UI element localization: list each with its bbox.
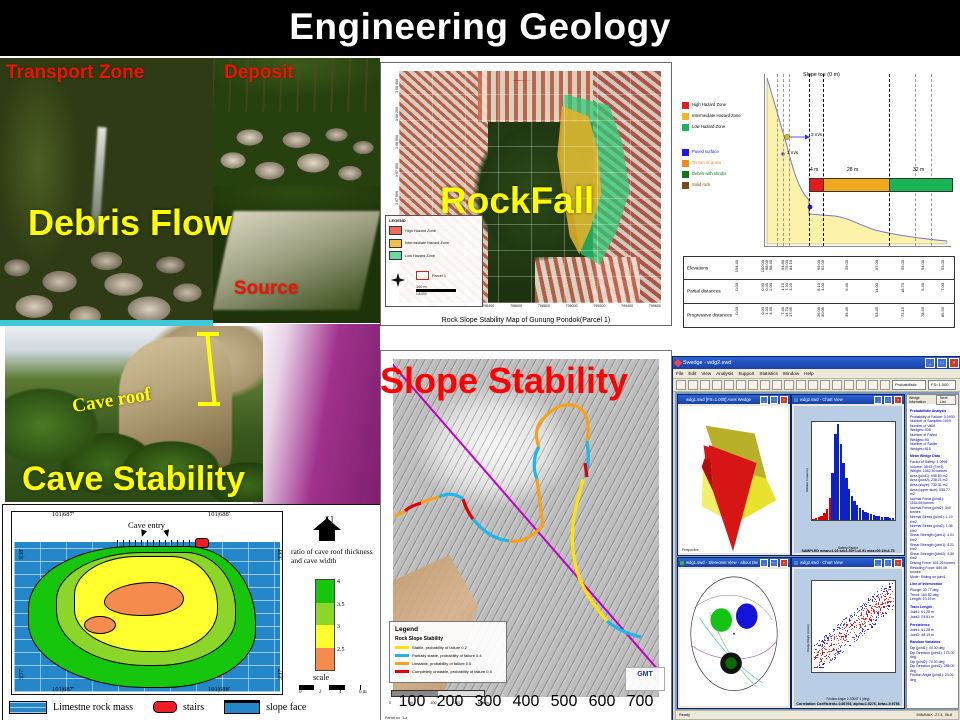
legend-item: Terrain or grass (682, 160, 760, 167)
table-cell: 72.15 (900, 307, 905, 317)
stairs-marker (195, 538, 209, 548)
scatter-point (881, 596, 882, 597)
roof-thickness-measure-icon (195, 330, 223, 408)
legend-swatch (682, 171, 689, 178)
table-cell: 57.00 (874, 260, 879, 270)
wedge-view-icon[interactable] (748, 380, 758, 390)
profile-data-table: Elevations104.40100.0098.0098.3094.8075.… (683, 256, 955, 328)
minimize-button[interactable]: _ (925, 358, 935, 368)
legend-title: Legend (395, 626, 502, 633)
subwindow-body: Wedge Weight (tonnes) Friction Angle 2 J… (794, 569, 902, 706)
print-icon[interactable] (760, 380, 770, 390)
subwindow-title-bar[interactable]: wdg1.swd [FS=1.000] Axes Wedge _ □ × (678, 395, 790, 404)
subwindow-wedge-3d[interactable]: wdg1.swd [FS=1.000] Axes Wedge _ □ × Per (677, 394, 791, 556)
y-tick: 3 08 400 (395, 79, 399, 93)
menu-item-window[interactable]: Window (783, 371, 799, 376)
subwindow-histogram[interactable]: wdg2.swd - Chart View _ □ × Relative Fre… (791, 394, 905, 556)
scatter-point (862, 624, 863, 625)
wedge-information-panel[interactable]: Wedge Information Next List Probabilisti… (906, 394, 959, 709)
scatter-point (819, 665, 820, 666)
scatter-point (827, 637, 828, 638)
menu-item-edit[interactable]: Edit (688, 371, 696, 376)
rockfall-map-caption: Rock Slope Stability Map of Gunung Pondo… (381, 317, 671, 324)
info-line: Shear Strength (joint1): 4.01 t/m2 (910, 533, 955, 542)
rotate-icon[interactable] (868, 380, 878, 390)
scatter-point (841, 636, 842, 637)
scatter-point (857, 612, 858, 613)
scatter-point (833, 644, 834, 645)
caption-cave-stability: Cave Stability (22, 460, 245, 499)
subwindow-scatter[interactable]: wdg2.swd - Chart View _ □ × Wedge Weight… (791, 557, 905, 709)
coord-top-right: 101|688' (208, 511, 230, 518)
scatter-point (854, 637, 855, 638)
scatter-point (878, 617, 879, 618)
wedge-3d-view[interactable] (680, 406, 788, 553)
table-row: Elevations104.40100.0098.0098.3094.8075.… (684, 257, 954, 280)
caption-rockfall: RockFall (440, 180, 594, 222)
scatter-point (852, 628, 853, 629)
label-cave-entry: Cave entry (128, 520, 165, 530)
legend-item: Unstable, probability of failure 0.5 (395, 661, 502, 666)
app-icon (674, 359, 682, 367)
menu-item-analysis[interactable]: Analysis (716, 371, 733, 376)
open-icon[interactable] (688, 380, 698, 390)
x-tick: 500 (551, 693, 578, 711)
scale-tick: 0 (299, 690, 302, 695)
scatter-point (856, 640, 857, 641)
scatter-point (865, 619, 866, 620)
page-title: Engineering Geology (0, 2, 960, 52)
scatter-point (846, 622, 847, 623)
ratio-legend-text: ratio of cave roof thickness and cave wi… (291, 547, 375, 565)
coord-bottom-left: 101|687' (52, 686, 74, 693)
scatter-point (831, 651, 832, 652)
scatter-point (826, 649, 827, 650)
scatter-point (833, 649, 834, 650)
histogram-caption: SAMPLED mean=1.03 sd=1.53+/-=6.91 max=00… (795, 549, 901, 553)
cave-roof-thickness-map: Cave entry 101|687' 101|688' 101|687' 10… (2, 504, 382, 720)
scatter-point (824, 637, 825, 638)
scatter-point (881, 604, 882, 605)
velocity-label-2: 3 m/s (787, 150, 798, 155)
scatter-point (817, 655, 818, 656)
subwindow-title-bar[interactable]: wdg2.swd - Chart View _ □ × (792, 395, 904, 404)
scatter-point (883, 591, 884, 592)
scatter-point (829, 662, 830, 663)
info-line: Normal Force (joint2): 340 tonnes (910, 506, 955, 515)
table-cell: 59.00 (844, 260, 849, 270)
legend-swatch (224, 700, 260, 714)
scale-label: scale (313, 673, 329, 682)
scatter-point (853, 637, 854, 638)
info-line: Dip Direction (joint1): 173.00 deg (910, 651, 955, 660)
subwindow-icon (794, 561, 798, 565)
scatter-point (836, 636, 837, 637)
x-tick: 200 (437, 693, 464, 711)
scatter-point (814, 659, 815, 660)
coord-bottom-right: 101|688' (208, 686, 230, 693)
scatter-point (850, 632, 851, 633)
close-button[interactable]: × (780, 396, 788, 404)
chart-icon[interactable] (772, 380, 782, 390)
grid-icon[interactable] (796, 380, 806, 390)
toolbar[interactable]: Probabilistic FS=1.000 (673, 379, 960, 392)
safety-factor-histogram[interactable]: Relative Frequency Safety Factor (794, 406, 902, 553)
scatter-point (834, 654, 835, 655)
ratio-color-ramp (315, 579, 335, 671)
subwindow-icon (680, 398, 684, 402)
ratio-ramp-labels: 43.532.5 (337, 575, 367, 671)
scatter-point (854, 641, 855, 642)
close-button[interactable]: × (780, 559, 788, 567)
slope-stability-legend: Legend Rock Slope Stability Stable, prob… (389, 621, 507, 683)
scatter-point (838, 648, 839, 649)
scatter-point (882, 593, 883, 594)
scatter-point (864, 621, 865, 622)
legend-swatch (682, 102, 689, 109)
caption-debris-flow: Debris Flow (28, 202, 232, 244)
window-title-bar[interactable]: Swedge - wdg2.swd _ □ × (673, 357, 960, 369)
scatter-point (883, 603, 884, 604)
scatter-point (851, 624, 852, 625)
scatter-point (825, 640, 826, 641)
scatter-point (834, 659, 835, 660)
coord-left-top: 3|38' (19, 549, 25, 560)
close-button[interactable]: × (894, 559, 902, 567)
scatter-point (844, 619, 845, 620)
legend-swatch (389, 226, 402, 235)
scatter-point (865, 622, 866, 623)
scatter-point (859, 633, 860, 634)
legend-item: Low Hazard Zone (682, 124, 760, 131)
rockfall-map-legend: LEGEND High Hazard ZoneIntermediate Haza… (385, 215, 483, 307)
undo-icon[interactable] (724, 380, 734, 390)
scatter-point (863, 629, 864, 630)
table-cell: 53.00 (940, 260, 945, 270)
table-cell: 55.00 (900, 260, 905, 270)
scatter-point (854, 626, 855, 627)
info-line: Friction Angle (joint1): 23.00 deg (910, 673, 955, 682)
info-line: Driving Force: 601.25 tonnes (910, 561, 955, 566)
scatter-point (854, 612, 855, 613)
scatter-point (840, 639, 841, 640)
legend-label: High Hazard Zone (405, 229, 436, 233)
scatter-point (880, 612, 881, 613)
scatter-point (876, 611, 877, 612)
scatter-point (834, 639, 835, 640)
scatter-point (831, 638, 832, 639)
north-and-scale-column: U ratio of cave roof thickness and cave … (291, 513, 375, 693)
table-cell: 9.40 (844, 283, 849, 291)
scatter-point (814, 652, 815, 653)
redo-icon[interactable] (736, 380, 746, 390)
scatter-point (876, 601, 877, 602)
scatter-point (841, 623, 842, 624)
scatter-point (872, 601, 873, 602)
table-cell: 0.00 (734, 307, 739, 315)
scatter-point (855, 622, 856, 623)
x-tick: 700 (627, 693, 654, 711)
legend-swatch (682, 182, 689, 189)
ramp-value: 4 (337, 579, 340, 585)
scatter-plot-area (811, 580, 895, 673)
histogram-bar (892, 518, 894, 520)
subwindow-title-bar[interactable]: wdg1.swd - Stereonet View - about Design… (678, 558, 790, 567)
scatter-point (828, 640, 829, 641)
menu-item-statistics[interactable]: Statistics (759, 371, 777, 376)
scatter-point (881, 588, 882, 589)
info-section-title: Line of Intersection (910, 582, 955, 587)
legend-swatch (682, 113, 689, 120)
ramp-value: 3.5 (337, 602, 345, 608)
legend-label: Limestne rock mass (53, 702, 133, 713)
x-tick: 300 (475, 693, 502, 711)
menu-item-support[interactable]: Support (738, 371, 754, 376)
close-button[interactable]: × (894, 396, 902, 404)
scatter-point (819, 645, 820, 646)
scatter-point (859, 619, 860, 620)
scatter-point (868, 602, 869, 603)
mdi-client-area: wdg1.swd [FS=1.000] Axes Wedge _ □ × Per (675, 392, 959, 712)
histogram-plot-area (811, 421, 895, 521)
maximize-button[interactable]: □ (884, 396, 892, 404)
save-icon[interactable] (700, 380, 710, 390)
table-cell: 104.40 (734, 260, 739, 272)
legend-items: High Hazard ZoneIntermediate Hazard Zone… (389, 226, 479, 260)
scatter-point (816, 657, 817, 658)
copy-icon[interactable] (712, 380, 722, 390)
table-cell: 85.55 (940, 307, 945, 317)
scatter-point (845, 644, 846, 645)
zoom-out-icon[interactable] (844, 380, 854, 390)
next-list-button[interactable]: Next List (936, 395, 956, 405)
minimize-button[interactable]: _ (760, 396, 768, 404)
scatter-point (888, 609, 889, 610)
status-right-label: MIN/MAX (917, 713, 933, 717)
minimize-button[interactable]: _ (874, 396, 882, 404)
scatter-point (884, 596, 885, 597)
scatter-point (849, 645, 850, 646)
scatter-point (824, 643, 825, 644)
ramp-band-0 (316, 580, 334, 603)
scatter-point (832, 658, 833, 659)
table-cell: 2.00 (768, 283, 773, 291)
analysis-type-select[interactable]: Probabilistic (892, 380, 926, 390)
info-line: Shear Strength (joint2): 4.30 t/m2 (910, 552, 955, 561)
scatter-point (848, 634, 849, 635)
scatter-point (867, 614, 868, 615)
info-line: Area (upper face): 055.77 m2 (910, 488, 955, 497)
row-label: Progressive distances (687, 313, 732, 318)
scatter-point (837, 625, 838, 626)
scatter-point (869, 605, 870, 606)
info-panel-title: Wedge Information (909, 396, 933, 404)
stereonet-plot[interactable] (680, 569, 788, 703)
subwindow-stereonet[interactable]: wdg1.swd - Stereonet View - about Design… (677, 557, 791, 709)
scatter-point (849, 627, 850, 628)
table-cell: 98.30 (768, 260, 773, 270)
measure-icon[interactable] (880, 380, 890, 390)
scatter-point (826, 643, 827, 644)
scatter-point (816, 644, 817, 645)
info-section-title: Trace Length (910, 605, 955, 610)
scatter-point (821, 659, 822, 660)
scatter-point (858, 618, 859, 619)
menu-item-help[interactable]: Help (804, 371, 813, 376)
scatter-point (861, 633, 862, 634)
close-button[interactable]: × (949, 358, 959, 368)
window-title: Swedge - wdg2.swd (683, 360, 923, 366)
scatter-point (840, 624, 841, 625)
legend-label: Solid rock (692, 182, 710, 189)
scatter-point (863, 624, 864, 625)
ratio-band-2p5-b (84, 616, 116, 634)
maximize-button[interactable]: □ (770, 559, 778, 567)
coord-top-left: 101|687' (52, 511, 74, 518)
scatter-point (852, 616, 853, 617)
info-line: Mode: Sliding on joint1 (910, 575, 955, 580)
subwindow-title-bar[interactable]: wdg2.swd - Chart View _ □ × (792, 558, 904, 567)
stereonet-icon[interactable] (784, 380, 794, 390)
scatter-x-label: Friction Angle 2 JOINT 1 (deg) (794, 697, 902, 701)
scatter-point (864, 604, 865, 605)
scatter-point (861, 621, 862, 622)
purple-backdrop (253, 324, 380, 504)
scatter-point (842, 621, 843, 622)
zone-width-low: 32 m (913, 167, 924, 173)
ramp-value: 3 (337, 624, 340, 630)
maximize-button[interactable]: □ (884, 559, 892, 567)
scatter-point (823, 652, 824, 653)
scatter-point (814, 667, 815, 668)
minimize-button[interactable]: _ (874, 559, 882, 567)
swedge-application-window[interactable]: Swedge - wdg2.swd _ □ × FileEditViewAnal… (672, 356, 960, 720)
scale-tick: 2 (319, 690, 322, 695)
zone-bar-intermediate (823, 178, 891, 192)
scatter-point (842, 636, 843, 637)
scatter-point (859, 635, 860, 636)
scatter-point (818, 654, 819, 655)
profile-legend: High Hazard ZoneIntermediate Hazard Zone… (682, 102, 760, 193)
scatter-point (847, 630, 848, 631)
scatter-point (858, 636, 859, 637)
table-cell: 0.00 (734, 283, 739, 291)
y-tick: 3 08 000 (395, 135, 399, 149)
new-icon[interactable] (676, 380, 686, 390)
scatter-point (859, 622, 860, 623)
scatter-point (823, 667, 824, 668)
y-tick: 3 07 800 (395, 163, 399, 177)
caption-slope-stability: Slope Stability (380, 360, 628, 402)
scatter-point (844, 645, 845, 646)
legend-line (395, 662, 409, 665)
scatter-point (869, 600, 870, 601)
legend-item: Low Hazard Zone (389, 251, 479, 260)
settings-icon[interactable] (820, 380, 830, 390)
minimize-button[interactable]: _ (760, 559, 768, 567)
table-cell: 3.30 (768, 307, 773, 315)
menu-bar[interactable]: FileEditViewAnalysisSupportStatisticsWin… (673, 369, 960, 379)
legend-label: stairs (183, 702, 204, 713)
scatter-point (863, 610, 864, 611)
legend-label: Partially stable, probability of failure… (412, 653, 482, 658)
scatter-point (878, 594, 879, 595)
menu-item-view[interactable]: View (701, 371, 711, 376)
fs-field[interactable]: FS=1.000 (928, 380, 956, 390)
scatter-point (840, 647, 841, 648)
scatter-point (886, 613, 887, 614)
scatter-point (840, 650, 841, 651)
scatter-point (873, 624, 874, 625)
table-cell: 7.00 (940, 283, 945, 291)
scatter-point (860, 632, 861, 633)
scatter-point (833, 629, 834, 630)
x-tick: 799400 (621, 304, 633, 308)
legend-swatch (153, 701, 177, 713)
table-row: Partial distances0.000.900.402.004.107.3… (684, 280, 954, 303)
row-label: Partial distances (687, 289, 721, 294)
map-frame: Cave entry 101|687' 101|688' 101|687' 10… (11, 511, 283, 695)
north-arrow-icon (319, 527, 335, 541)
slide-title-bar: Engineering Geology (0, 0, 960, 56)
legend-line (395, 670, 409, 673)
scatter-point (874, 594, 875, 595)
scatter-point (842, 642, 843, 643)
scatter-point (814, 645, 815, 646)
info-line: Dip Direction (joint2): 285.00 deg (910, 664, 955, 673)
scatter-point (892, 591, 893, 592)
subwindow-title: wdg2.swd - Chart View (800, 560, 872, 565)
info-line: Joint2: 48.19 m (910, 633, 955, 638)
subwindow-title: wdg1.swd [FS=1.000] Axes Wedge (686, 397, 758, 402)
table-cell: 39.45 (844, 307, 849, 317)
scatter-point (885, 603, 886, 604)
x-tick: 799200 (593, 304, 605, 308)
scatter-point (842, 627, 843, 628)
scatter-point (885, 594, 886, 595)
maximize-button[interactable]: □ (937, 358, 947, 368)
scatter-point (893, 601, 894, 602)
legend-item: Stable, probability of failure 0.2 (395, 645, 502, 650)
scatter-point (864, 633, 865, 634)
scatter-point (824, 639, 825, 640)
scatter-point (846, 633, 847, 634)
scatter-point (871, 621, 872, 622)
scatter-point (840, 633, 841, 634)
legend-label: Low Hazard Zone (692, 124, 725, 131)
scatter-point (831, 645, 832, 646)
maximize-button[interactable]: □ (770, 396, 778, 404)
info-section-title: Random Variables (910, 640, 955, 645)
scatter-point (835, 655, 836, 656)
table-cell: 18.70 (900, 283, 905, 293)
zoom-in-icon[interactable] (832, 380, 842, 390)
correlation-scatter-chart[interactable]: Wedge Weight (tonnes) Friction Angle 2 J… (794, 569, 902, 706)
zoom-all-icon[interactable] (856, 380, 866, 390)
table-cell: 14.00 (874, 283, 879, 293)
scatter-point (868, 621, 869, 622)
table-row: Progressive distances0.000.901.303.307.4… (684, 304, 954, 327)
scatter-point (828, 651, 829, 652)
scatter-point (829, 657, 830, 658)
scatter-point (857, 620, 858, 621)
info-icon[interactable] (808, 380, 818, 390)
menu-item-file[interactable]: File (676, 371, 683, 376)
coord-right-top: 3|38' (278, 549, 284, 560)
label-source: Source (234, 278, 298, 300)
scatter-point (862, 635, 863, 636)
legend-item: Completely unstable, probability of fail… (395, 669, 502, 674)
